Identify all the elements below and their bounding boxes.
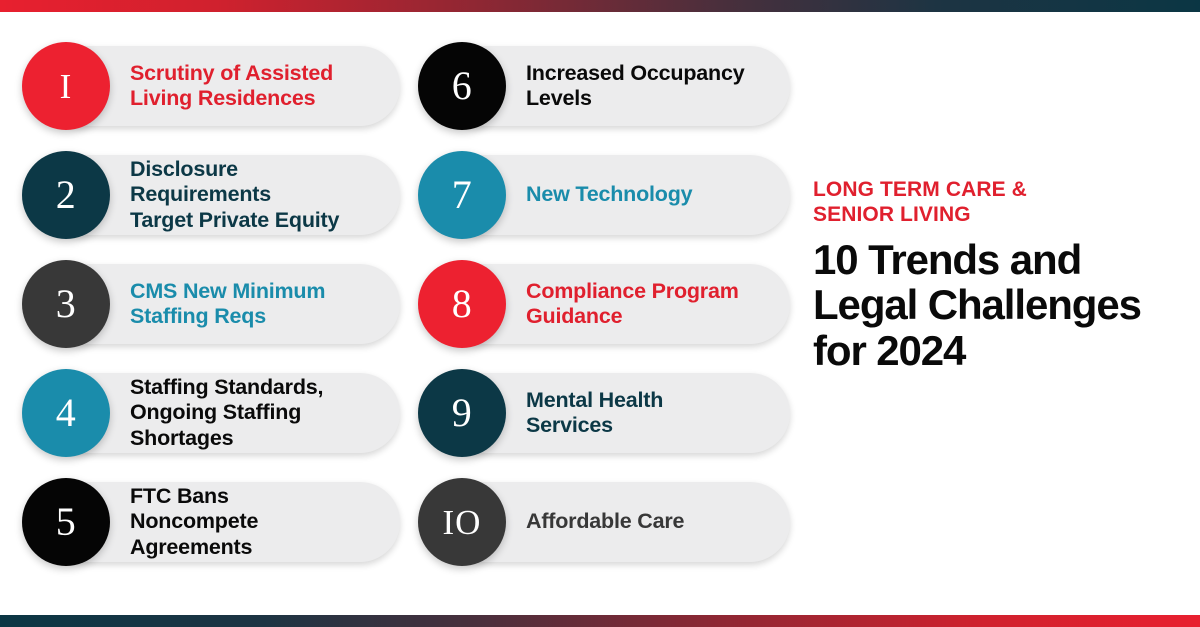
trend-number-badge: 7 (418, 151, 506, 239)
trend-number-badge: 6 (418, 42, 506, 130)
trend-number-badge: 9 (418, 369, 506, 457)
trend-item-label: CMS New Minimum Staffing Reqs (130, 279, 325, 329)
top-gradient-bar (0, 0, 1200, 12)
trend-number-badge: 4 (22, 369, 110, 457)
trend-item-label: New Technology (526, 182, 692, 207)
trend-number-badge: IO (418, 478, 506, 566)
bottom-gradient-bar (0, 615, 1200, 627)
trend-column-right: 6Increased Occupancy Levels7New Technolo… (418, 42, 790, 587)
trend-column-left: IScrutiny of Assisted Living Residences2… (22, 42, 400, 587)
trend-item-label: Mental Health Services (526, 388, 663, 438)
trend-number-badge: 5 (22, 478, 110, 566)
infographic-page: IScrutiny of Assisted Living Residences2… (0, 0, 1200, 627)
trend-item-label: Affordable Care (526, 509, 684, 534)
page-title: 10 Trends and Legal Challenges for 2024 (813, 237, 1200, 373)
title-block: LONG TERM CARE & SENIOR LIVING 10 Trends… (813, 178, 1200, 373)
trend-item-label: Staffing Standards, Ongoing Staffing Sho… (130, 375, 323, 450)
trend-number-badge: 2 (22, 151, 110, 239)
trend-item[interactable]: 7New Technology (418, 151, 790, 239)
trend-number-badge: 8 (418, 260, 506, 348)
trend-item[interactable]: IScrutiny of Assisted Living Residences (22, 42, 400, 130)
trend-item-label: Increased Occupancy Levels (526, 61, 744, 111)
trend-item[interactable]: 4Staffing Standards, Ongoing Staffing Sh… (22, 369, 400, 457)
trend-item[interactable]: 2Disclosure Requirements Target Private … (22, 151, 400, 239)
trend-item[interactable]: 8Compliance Program Guidance (418, 260, 790, 348)
trend-item-label: FTC Bans Noncompete Agreements (130, 484, 258, 559)
trend-item-label: Compliance Program Guidance (526, 279, 739, 329)
trend-item-label: Disclosure Requirements Target Private E… (130, 157, 339, 232)
trend-item[interactable]: 3CMS New Minimum Staffing Reqs (22, 260, 400, 348)
trend-item[interactable]: IOAffordable Care (418, 478, 790, 566)
trend-item-label: Scrutiny of Assisted Living Residences (130, 61, 333, 111)
trend-item[interactable]: 5FTC Bans Noncompete Agreements (22, 478, 400, 566)
trend-item[interactable]: 6Increased Occupancy Levels (418, 42, 790, 130)
trend-item[interactable]: 9Mental Health Services (418, 369, 790, 457)
trend-number-badge: I (22, 42, 110, 130)
trend-number-badge: 3 (22, 260, 110, 348)
eyebrow-text: LONG TERM CARE & SENIOR LIVING (813, 178, 1200, 227)
